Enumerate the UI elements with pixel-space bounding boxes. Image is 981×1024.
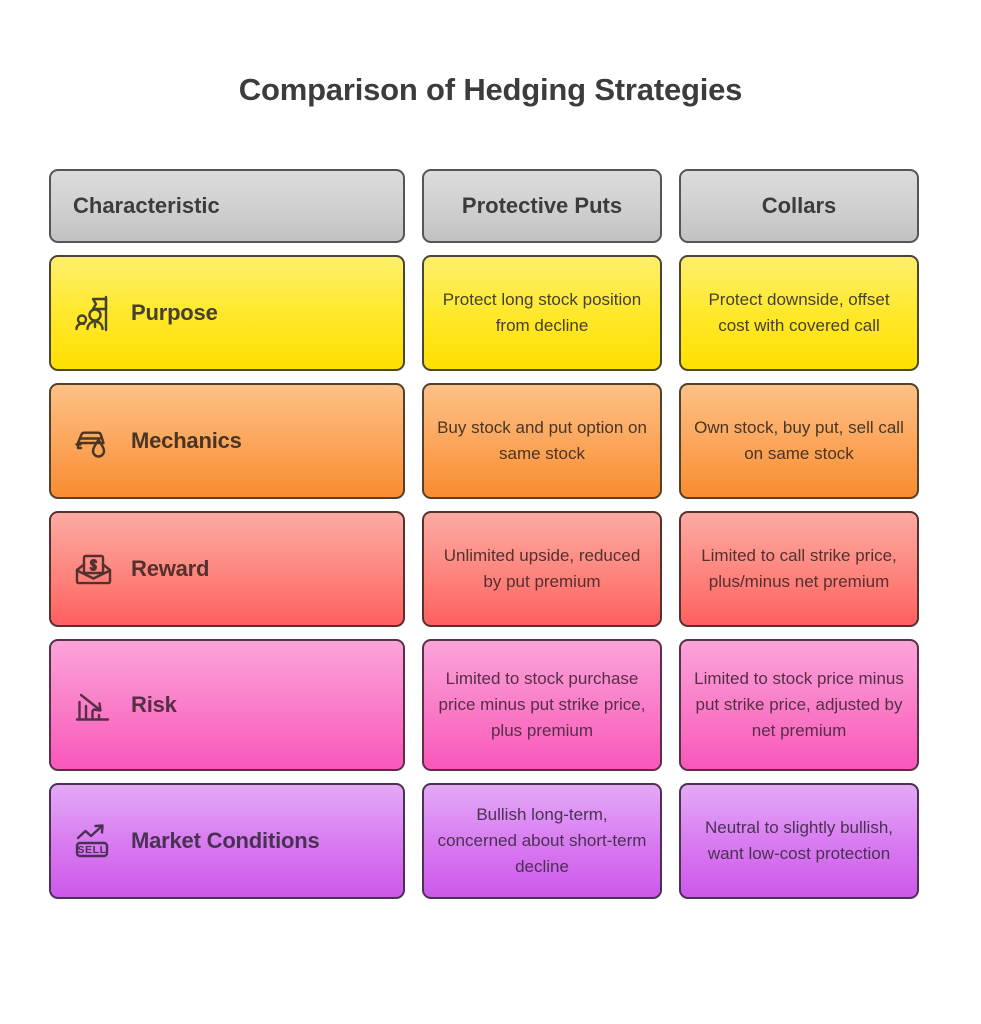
row-label-reward: Reward xyxy=(131,556,209,582)
cell-text: Buy stock and put option on same stock xyxy=(436,415,648,467)
row-label-cell-reward: Reward xyxy=(49,511,405,627)
header-label-characteristic: Characteristic xyxy=(51,193,403,219)
row-label-cell-purpose: Purpose xyxy=(49,255,405,371)
header-cell-collars: Collars xyxy=(679,169,919,243)
cell-text: Bullish long-term, concerned about short… xyxy=(436,802,648,879)
infographic-page: Comparison of Hedging Strategies Charact… xyxy=(0,0,981,1024)
table-row-mechanics: Mechanics Buy stock and put option on sa… xyxy=(49,383,919,499)
cell-risk-protective-puts: Limited to stock purchase price minus pu… xyxy=(422,639,662,771)
row-label-cell-mechanics: Mechanics xyxy=(49,383,405,499)
cell-text: Limited to stock price minus put strike … xyxy=(693,666,905,743)
cell-text: Limited to stock purchase price minus pu… xyxy=(436,666,648,743)
cell-purpose-collars: Protect downside, offset cost with cover… xyxy=(679,255,919,371)
sell-trend-up-icon: SELL xyxy=(71,818,117,864)
row-label-market-conditions: Market Conditions xyxy=(131,828,320,854)
cell-text: Own stock, buy put, sell call on same st… xyxy=(693,415,905,467)
envelope-dollar-icon xyxy=(71,546,117,592)
svg-text:SELL: SELL xyxy=(77,844,106,856)
cell-text: Protect long stock position from decline xyxy=(436,287,648,339)
table-row-purpose: Purpose Protect long stock position from… xyxy=(49,255,919,371)
car-oil-drop-icon xyxy=(71,418,117,464)
page-title: Comparison of Hedging Strategies xyxy=(0,72,981,108)
cell-text: Unlimited upside, reduced by put premium xyxy=(436,543,648,595)
header-cell-protective-puts: Protective Puts xyxy=(422,169,662,243)
cell-mechanics-collars: Own stock, buy put, sell call on same st… xyxy=(679,383,919,499)
row-label-mechanics: Mechanics xyxy=(131,428,242,454)
cell-market-conditions-collars: Neutral to slightly bullish, want low-co… xyxy=(679,783,919,899)
cell-mechanics-protective-puts: Buy stock and put option on same stock xyxy=(422,383,662,499)
cell-text: Limited to call strike price, plus/minus… xyxy=(693,543,905,595)
cell-purpose-protective-puts: Protect long stock position from decline xyxy=(422,255,662,371)
table-row-reward: Reward Unlimited upside, reduced by put … xyxy=(49,511,919,627)
cell-text: Protect downside, offset cost with cover… xyxy=(693,287,905,339)
declining-bar-chart-arrow-icon xyxy=(71,682,117,728)
row-label-cell-risk: Risk xyxy=(49,639,405,771)
cell-market-conditions-protective-puts: Bullish long-term, concerned about short… xyxy=(422,783,662,899)
cell-reward-protective-puts: Unlimited upside, reduced by put premium xyxy=(422,511,662,627)
row-label-purpose: Purpose xyxy=(131,300,218,326)
table-row-risk: Risk Limited to stock purchase price min… xyxy=(49,639,919,771)
team-flag-goal-icon xyxy=(71,290,117,336)
cell-text: Neutral to slightly bullish, want low-co… xyxy=(693,815,905,867)
row-label-cell-market-conditions: SELL Market Conditions xyxy=(49,783,405,899)
cell-risk-collars: Limited to stock price minus put strike … xyxy=(679,639,919,771)
header-label-protective-puts: Protective Puts xyxy=(424,193,660,219)
table-header-row: Characteristic Protective Puts Collars xyxy=(49,169,919,243)
table-row-market-conditions: SELL Market Conditions Bullish long-term… xyxy=(49,783,919,899)
comparison-table: Characteristic Protective Puts Collars xyxy=(49,169,919,899)
row-label-risk: Risk xyxy=(131,692,177,718)
cell-reward-collars: Limited to call strike price, plus/minus… xyxy=(679,511,919,627)
header-cell-characteristic: Characteristic xyxy=(49,169,405,243)
header-label-collars: Collars xyxy=(681,193,917,219)
